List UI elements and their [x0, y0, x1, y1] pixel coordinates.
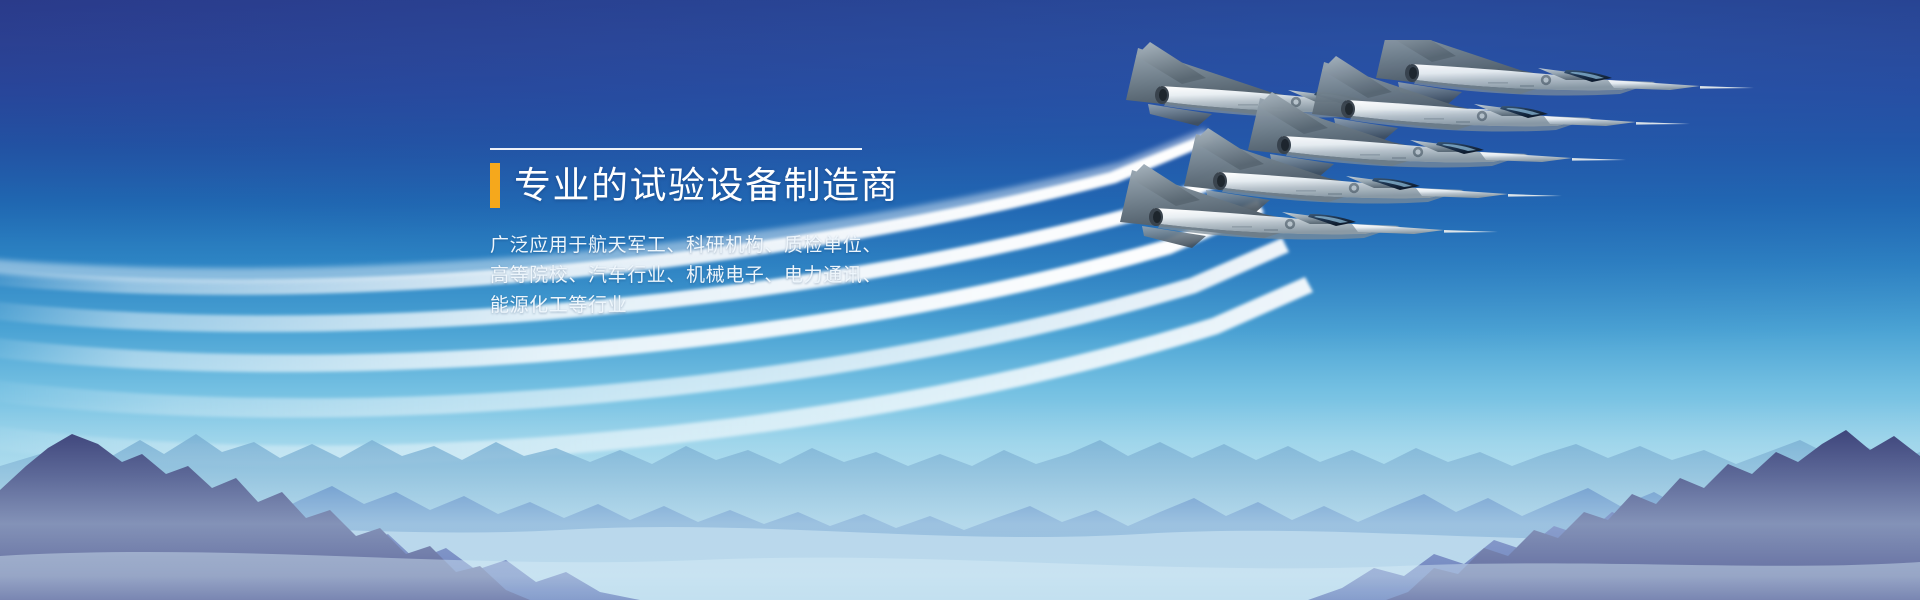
banner-copy: 专业的试验设备制造商 广泛应用于航天军工、科研机构、质检单位、 高等院校、汽车行… [490, 148, 920, 320]
mountain-silhouettes [0, 370, 1920, 600]
page-title: 专业的试验设备制造商 [514, 163, 899, 208]
subtitle-line-1: 广泛应用于航天军工、科研机构、质检单位、 [490, 230, 920, 260]
accent-bar-icon [490, 163, 500, 208]
subtitle-block: 广泛应用于航天军工、科研机构、质检单位、 高等院校、汽车行业、机械电子、电力通讯… [490, 230, 920, 320]
subtitle-line-2: 高等院校、汽车行业、机械电子、电力通讯、 [490, 260, 920, 290]
hero-banner: 专业的试验设备制造商 广泛应用于航天军工、科研机构、质检单位、 高等院校、汽车行… [0, 0, 1920, 600]
subtitle-line-3: 能源化工等行业 [490, 290, 920, 320]
fighter-jet-formation [1120, 40, 1920, 320]
headline-row: 专业的试验设备制造商 [490, 163, 920, 208]
headline-divider-rule [490, 148, 862, 150]
